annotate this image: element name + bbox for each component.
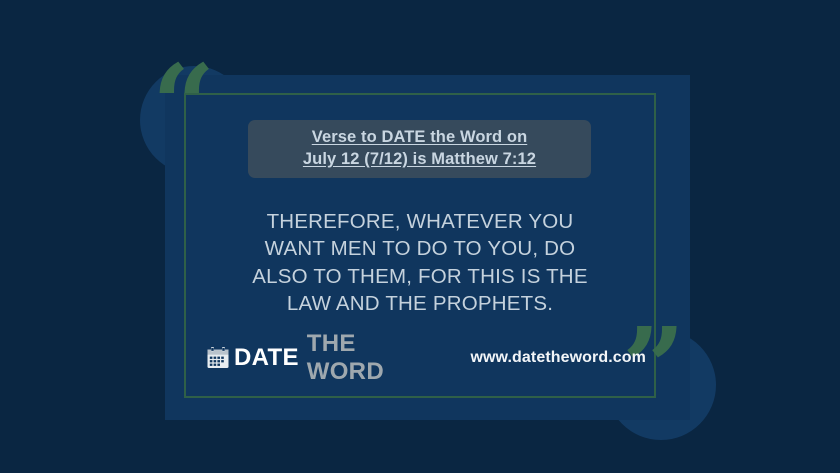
quote-open-icon: “ [152, 50, 215, 160]
verse-title-box: Verse to DATE the Word on July 12 (7/12)… [248, 120, 591, 178]
footer-brand-bar: DATE THE WORD www.datetheword.com [206, 342, 646, 374]
calendar-icon [206, 346, 230, 370]
brand-name-secondary: THE WORD [307, 330, 437, 386]
website-url: www.datetheword.com [470, 349, 646, 367]
verse-title-text: Verse to DATE the Word on July 12 (7/12)… [303, 127, 536, 171]
verse-body-text: THEREFORE, WHATEVER YOU WANT MEN TO DO T… [215, 208, 625, 317]
brand-name-primary: DATE [234, 344, 299, 372]
verse-graphic: “ ” Verse to DATE the Word on July 12 (7… [0, 0, 840, 473]
